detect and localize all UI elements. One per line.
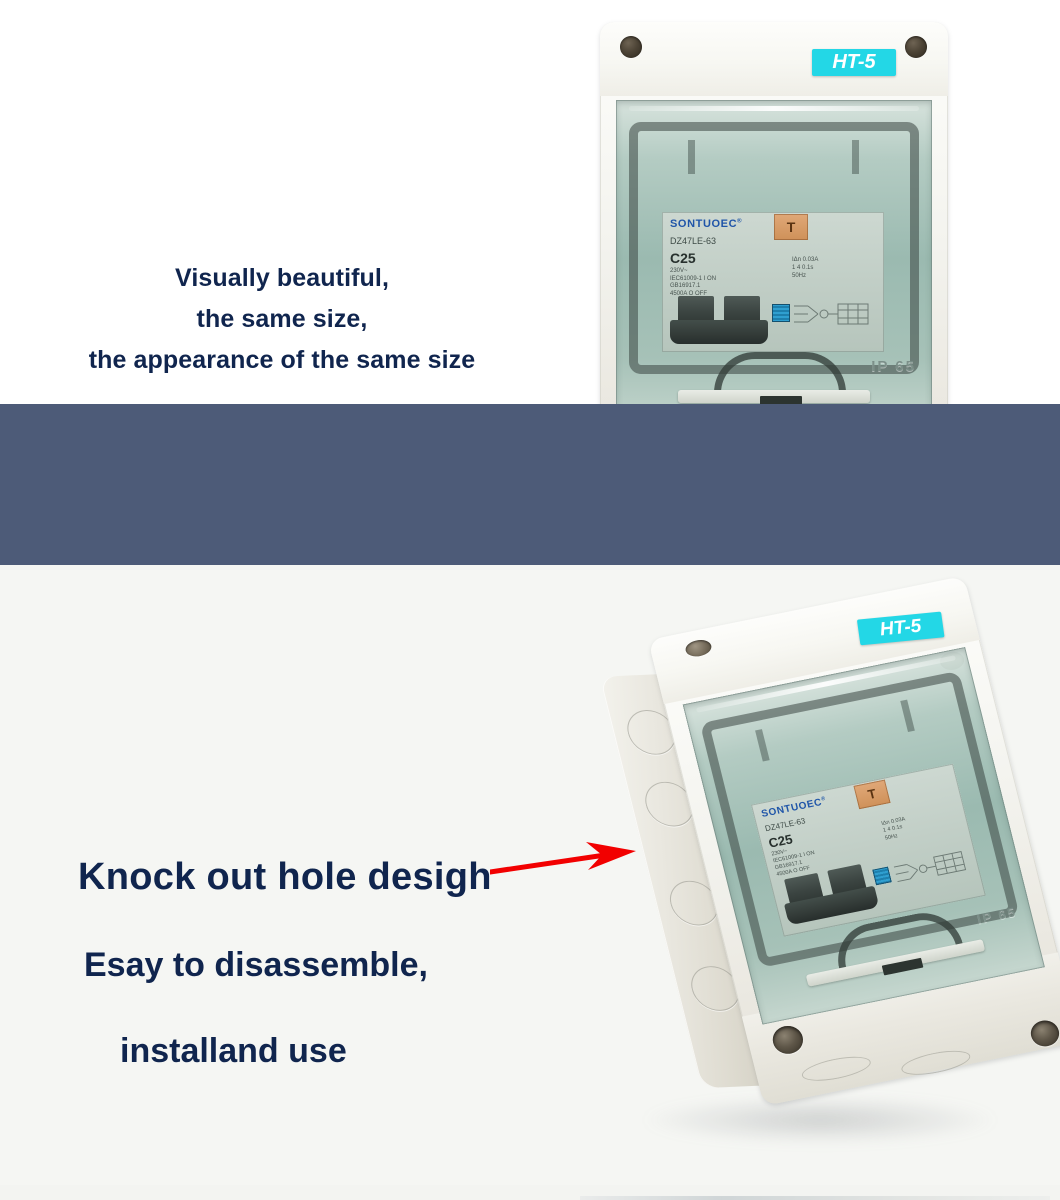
indicator-chip-angled — [872, 867, 892, 886]
rcd-spec-lines: IΔn 0.03A 1 4 0.1s 50Hz — [792, 256, 872, 280]
cover-latch-handle[interactable] — [714, 352, 846, 393]
mounting-screw-top-left — [620, 36, 642, 58]
breaker-brand-text: SONTUOEC — [670, 218, 737, 230]
test-button[interactable]: T — [774, 214, 808, 240]
cover-ridge-right — [852, 140, 859, 174]
ip-rating-label: IP 65 — [871, 358, 916, 375]
wiring-diagram-icon — [790, 298, 876, 334]
cover-ridge-left — [688, 140, 695, 174]
breaker-rating: C25 — [670, 250, 696, 266]
mounting-screw-top-right — [905, 36, 927, 58]
top-headline-line-2: the same size, — [0, 299, 560, 340]
registered-mark-icon-angled: ® — [821, 796, 827, 803]
breaker-model-angled: DZ47LE-63 — [764, 816, 806, 833]
top-headline-line-3: the appearance of the same size — [0, 340, 560, 381]
pointer-arrow-icon — [490, 826, 642, 886]
breaker-module: SONTUOEC® DZ47LE-63 C25 230V~ IEC61009-1… — [662, 212, 884, 352]
model-sticker: HT-5 — [812, 49, 896, 76]
test-button-angled[interactable]: T — [853, 780, 890, 810]
breaker-tie-bar[interactable] — [670, 320, 768, 344]
bottom-headline: Knock out hole desigh Esay to disassembl… — [78, 853, 598, 1073]
wiring-diagram-icon-angled — [888, 844, 975, 893]
divider-band — [0, 404, 1060, 565]
breaker-brand-text-angled: SONTUOEC — [760, 797, 823, 820]
top-headline-line-1: Visually beautiful, — [0, 258, 560, 299]
footer-divider — [580, 1196, 1050, 1200]
product-detail-page: Visually beautiful, the same size, the a… — [0, 0, 1060, 1200]
rcd-spec-lines-angled: IΔn 0.03A 1 4 0.1s 50Hz — [881, 806, 961, 843]
bottom-headline-line-3: installand use — [78, 1029, 598, 1073]
registered-mark-icon: ® — [737, 218, 742, 224]
breaker-model: DZ47LE-63 — [670, 236, 716, 246]
bottom-headline-line-2: Esay to disassemble, — [78, 943, 598, 987]
breaker-brand: SONTUOEC® — [670, 218, 742, 230]
top-headline: Visually beautiful, the same size, the a… — [0, 258, 560, 381]
cover-glare — [629, 106, 920, 111]
indicator-chip — [772, 304, 790, 322]
breaker-spec-lines: 230V~ IEC61009-1 I ON GB16917.1 4500A O … — [670, 268, 748, 299]
transparent-cover-window: IP 65 SONTUOEC® DZ47LE-63 C25 230V~ IEC6… — [616, 100, 932, 430]
